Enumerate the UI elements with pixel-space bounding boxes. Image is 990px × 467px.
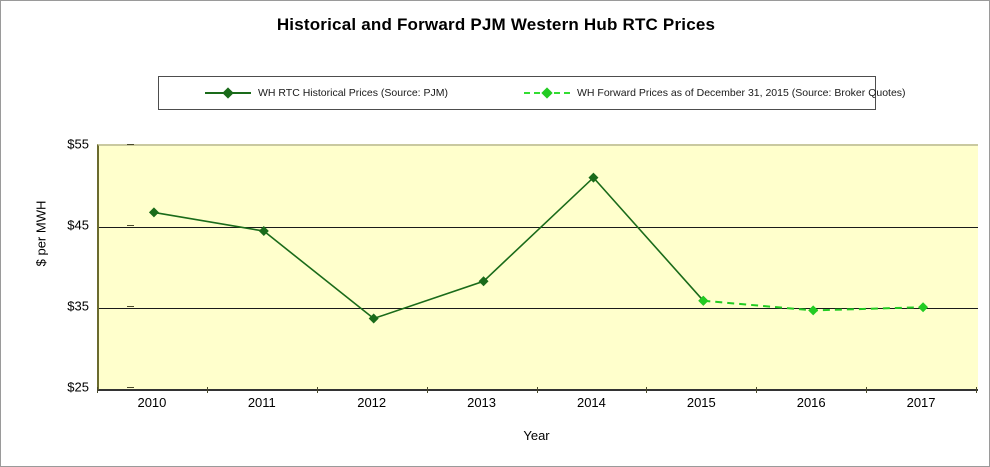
x-tick-mark — [207, 387, 208, 393]
series-layer — [99, 146, 978, 389]
x-tick-mark — [866, 387, 867, 393]
x-tick-mark — [537, 387, 538, 393]
series-line-historical — [154, 178, 703, 319]
legend-item-historical: WH RTC Historical Prices (Source: PJM) — [205, 77, 448, 109]
legend-diamond-marker-icon — [541, 87, 552, 98]
y-tick-mark — [127, 306, 134, 307]
legend-label-forward: WH Forward Prices as of December 31, 201… — [577, 87, 906, 99]
y-axis-title: $ per MWH — [34, 174, 49, 294]
legend-label-historical: WH RTC Historical Prices (Source: PJM) — [258, 87, 448, 99]
legend-diamond-marker-icon — [222, 87, 233, 98]
data-point-historical — [149, 207, 159, 217]
x-axis-title: Year — [97, 428, 976, 443]
x-tick-label: 2014 — [551, 395, 631, 410]
legend-item-forward: WH Forward Prices as of December 31, 201… — [524, 77, 906, 109]
chart-container: Historical and Forward PJM Western Hub R… — [0, 0, 990, 467]
legend-swatch-historical — [205, 87, 251, 99]
x-tick-mark — [646, 387, 647, 393]
x-tick-label: 2017 — [881, 395, 961, 410]
plot-area — [97, 144, 978, 391]
data-point-forward — [808, 305, 818, 315]
x-tick-label: 2013 — [442, 395, 522, 410]
y-tick-mark — [127, 225, 134, 226]
x-tick-mark — [427, 387, 428, 393]
x-tick-mark — [756, 387, 757, 393]
x-tick-mark — [317, 387, 318, 393]
x-tick-mark — [97, 387, 98, 393]
x-tick-label: 2016 — [771, 395, 851, 410]
y-tick-label: $55 — [43, 137, 89, 152]
y-tick-label: $35 — [43, 299, 89, 314]
x-tick-label: 2010 — [112, 395, 192, 410]
chart-legend: WH RTC Historical Prices (Source: PJM) W… — [158, 76, 876, 110]
x-tick-label: 2012 — [332, 395, 412, 410]
x-tick-label: 2015 — [661, 395, 741, 410]
x-tick-mark — [976, 387, 977, 393]
y-tick-label: $45 — [43, 218, 89, 233]
y-tick-label: $25 — [43, 380, 89, 395]
x-tick-label: 2011 — [222, 395, 302, 410]
y-tick-mark — [127, 387, 134, 388]
y-tick-mark — [127, 144, 134, 145]
data-point-forward — [918, 302, 928, 312]
legend-swatch-forward — [524, 87, 570, 99]
chart-title: Historical and Forward PJM Western Hub R… — [1, 15, 990, 35]
